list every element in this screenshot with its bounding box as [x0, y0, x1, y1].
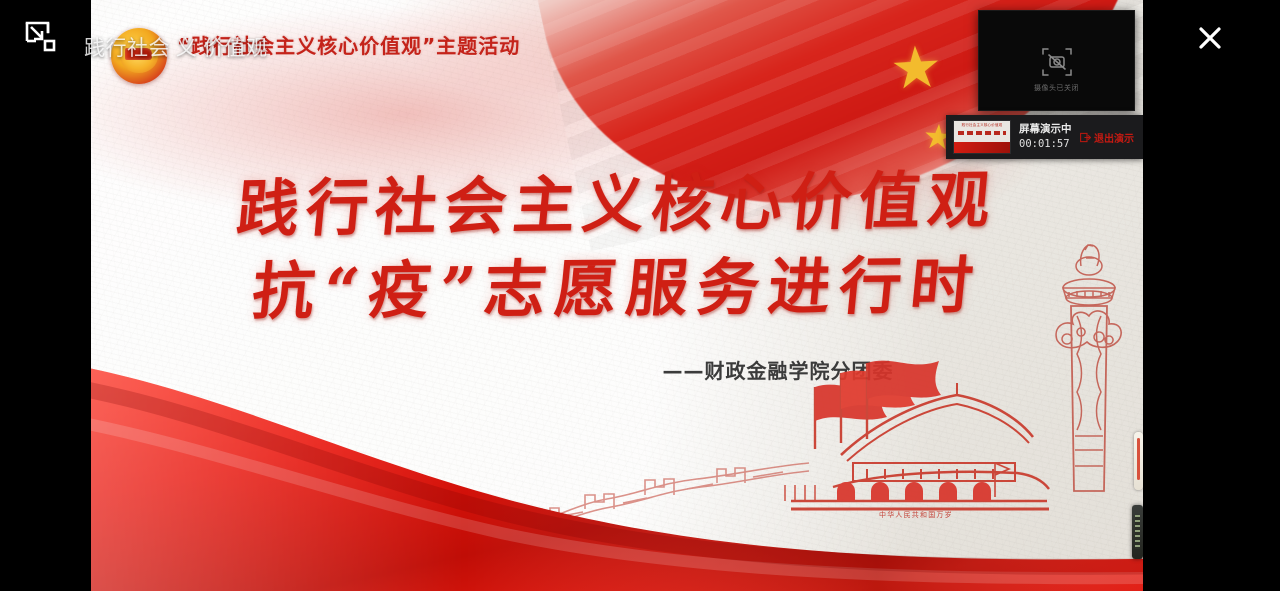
share-thumb-ribbon	[954, 142, 1010, 153]
red-silk-ribbon	[91, 321, 1143, 591]
camera-pip-note: 摄像头已关闭	[979, 83, 1134, 93]
share-timer: 00:01:57	[1019, 138, 1072, 151]
share-thumb-caption: 践行社会主义核心价值观	[954, 123, 1010, 128]
screen-share-viewer: ★ ★ ★ “践行社会主义核心价值观”主题活动 践行社会主义核心价值观 抗“疫”…	[0, 0, 1280, 591]
share-preview-thumbnail[interactable]: 践行社会主义核心价值观	[953, 120, 1011, 154]
share-thumb-lines	[958, 131, 1006, 135]
flag-star-large: ★	[889, 38, 944, 99]
slide-title-line-1: 践行社会主义核心价值观	[91, 162, 1143, 249]
edge-slider-fill	[1137, 438, 1140, 480]
share-status-text: 屏幕演示中 00:01:57	[1019, 123, 1072, 151]
exit-share-icon	[1080, 132, 1091, 143]
exit-share-label: 退出演示	[1094, 130, 1134, 145]
slide-title-block: 践行社会主义核心价值观 抗“疫”志愿服务进行时	[91, 168, 1143, 328]
screen-share-status-bar[interactable]: 践行社会主义核心价值观 屏幕演示中 00:01:57 退出演示	[946, 115, 1143, 159]
overlay-stream-title: 践行社会 义 价值观	[84, 32, 268, 62]
camera-off-icon	[1042, 47, 1072, 77]
slide-title-line-2: 抗“疫”志愿服务进行时	[91, 245, 1143, 332]
edge-drag-handle[interactable]	[1132, 505, 1143, 559]
edge-slider-control[interactable]	[1134, 432, 1143, 490]
close-icon[interactable]	[1192, 20, 1228, 56]
camera-pip-window[interactable]: 摄像头已关闭	[978, 10, 1135, 111]
exit-share-button[interactable]: 退出演示	[1080, 130, 1136, 145]
exit-fullscreen-icon[interactable]	[24, 20, 58, 54]
share-state-label: 屏幕演示中	[1019, 123, 1072, 136]
edge-handle-grip	[1135, 515, 1140, 549]
